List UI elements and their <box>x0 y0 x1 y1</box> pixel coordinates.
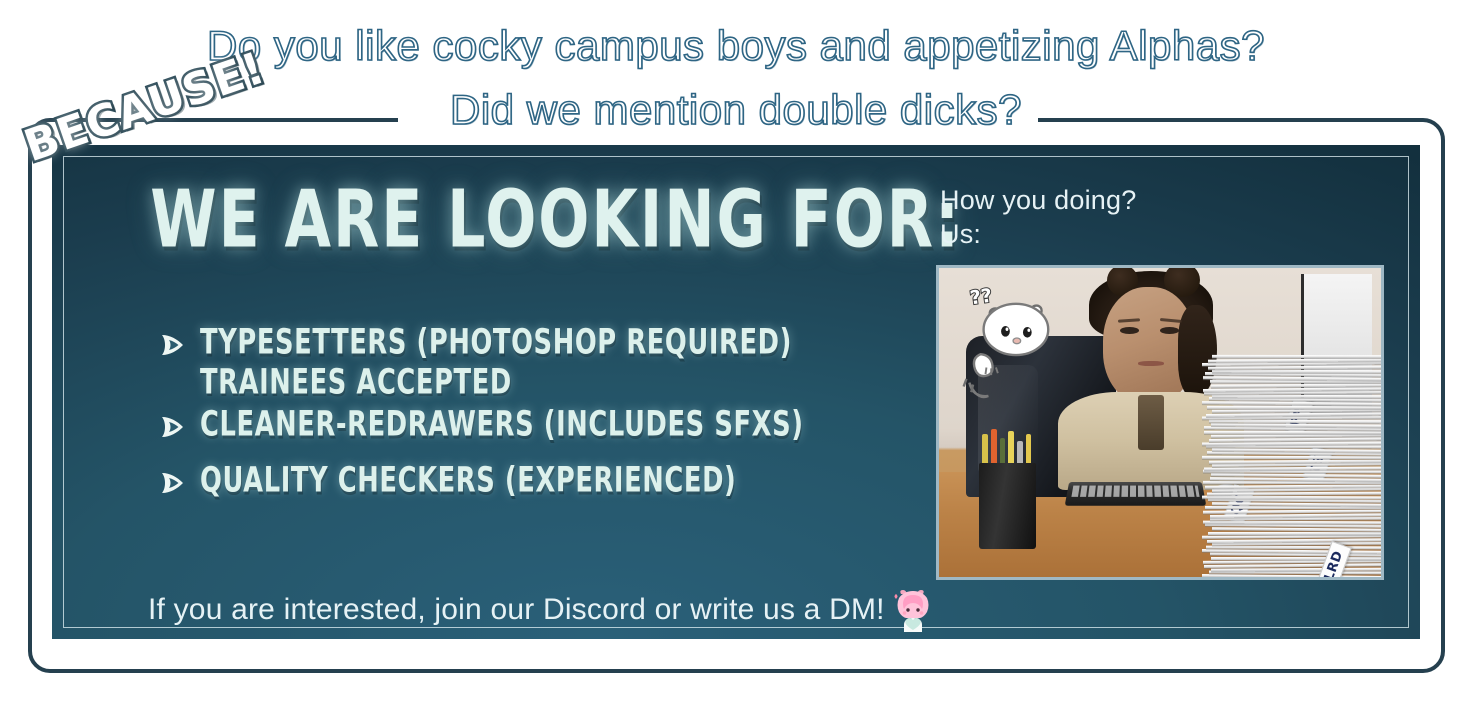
paper-sheet <box>1202 574 1381 577</box>
list-item-label: TYPESETTERS (PHOTOSHOP REQUIRED) TRAINEE… <box>200 323 792 403</box>
paper-sheet <box>1207 491 1381 495</box>
paper-stack: TL PR TS QC CLRD <box>1207 346 1381 577</box>
list-item: TYPESETTERS (PHOTOSHOP REQUIRED) TRAINEE… <box>160 323 958 383</box>
paper-sheet <box>1211 567 1381 571</box>
person-eye-right <box>1160 327 1179 334</box>
pen-cup <box>979 463 1036 550</box>
list-item: CLEANER-REDRAWERS (INCLUDES SFXS) <box>160 405 958 439</box>
footer-note-label: If you are interested, join our Discord … <box>148 593 885 627</box>
paper-sheet <box>1202 456 1381 459</box>
paper-sheet <box>1212 369 1381 373</box>
person-collar <box>1138 395 1165 451</box>
right-line-2: Us: <box>940 217 1420 251</box>
paper-sheet <box>1211 557 1381 560</box>
paper-sheet <box>1212 355 1381 358</box>
paper-sheet <box>1208 532 1381 535</box>
paper-sheet <box>1207 365 1381 369</box>
paper-sheet <box>1202 495 1381 499</box>
list-item-label: CLEANER-REDRAWERS (INCLUDES SFXS) <box>200 405 804 445</box>
heart-chevron-bullet-icon <box>160 333 186 357</box>
footer-note: If you are interested, join our Discord … <box>148 588 933 632</box>
keyboard <box>1065 482 1207 506</box>
list-item: QUALITY CHECKERS (EXPERIENCED) <box>160 461 958 495</box>
paper-sheet <box>1203 520 1381 524</box>
office-photo: ?? TL PR TS QC CLRD <box>936 265 1384 580</box>
frame-top-notch <box>398 104 1038 130</box>
right-column: How you doing? Us: <box>940 183 1420 251</box>
white-cat-plush-sticker-icon: ?? <box>961 280 1080 404</box>
office-photo-image: ?? TL PR TS QC CLRD <box>939 268 1381 577</box>
heart-chevron-bullet-icon <box>160 471 186 495</box>
person-eye-left <box>1120 327 1139 334</box>
paper-sheet <box>1203 481 1381 484</box>
poster-panel: WE ARE LOOKING FOR: TYPESETTERS (PHOTOSH… <box>52 145 1420 639</box>
list-item-label: QUALITY CHECKERS (EXPERIENCED) <box>200 461 736 501</box>
paper-sheet <box>1204 431 1381 434</box>
left-column: WE ARE LOOKING FOR: TYPESETTERS (PHOTOSH… <box>138 175 958 517</box>
page-title: WE ARE LOOKING FOR: <box>150 175 945 265</box>
question-marks: ?? <box>969 285 994 310</box>
person-mouth <box>1138 361 1165 366</box>
paper-sheet <box>1207 405 1381 408</box>
paper-sheet <box>1210 380 1381 383</box>
pink-haired-chibi-heart-icon <box>893 588 933 632</box>
recruitment-poster: Do you like cocky campus boys and appeti… <box>0 0 1472 707</box>
heart-chevron-bullet-icon <box>160 415 186 439</box>
paper-sheet <box>1212 394 1381 398</box>
right-line-1: How you doing? <box>940 183 1420 217</box>
paper-sheet <box>1204 466 1381 470</box>
roles-list: TYPESETTERS (PHOTOSHOP REQUIRED) TRAINEE… <box>138 323 958 495</box>
